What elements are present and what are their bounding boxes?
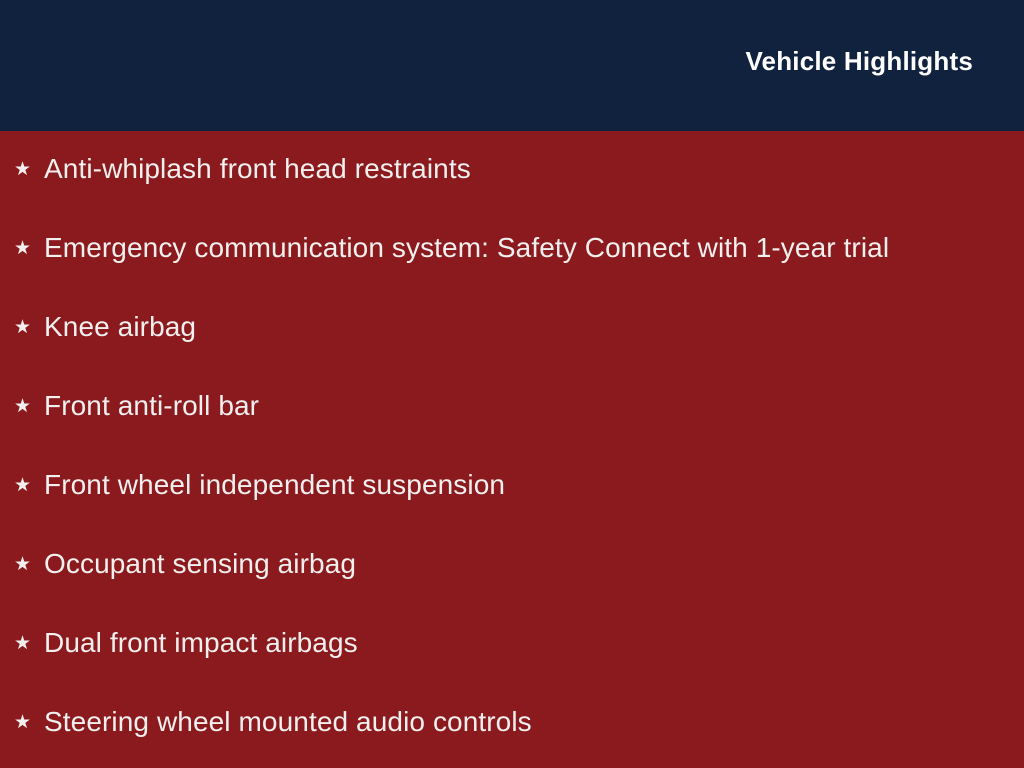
star-bullet-icon: ★ (14, 555, 44, 574)
slide-header-bar: Vehicle Highlights (0, 0, 1024, 131)
list-item: ★ Steering wheel mounted audio controls (14, 702, 1004, 742)
star-bullet-icon: ★ (14, 239, 44, 258)
list-item: ★ Front anti-roll bar (14, 386, 1004, 426)
list-item: ★ Dual front impact airbags (14, 623, 1004, 663)
slide-body: ★ Anti-whiplash front head restraints ★ … (0, 131, 1024, 768)
list-item-label: Occupant sensing airbag (44, 549, 356, 578)
list-item: ★ Emergency communication system: Safety… (14, 228, 1004, 268)
page-title: Vehicle Highlights (745, 46, 973, 77)
star-bullet-icon: ★ (14, 634, 44, 653)
star-bullet-icon: ★ (14, 397, 44, 416)
star-bullet-icon: ★ (14, 160, 44, 179)
star-bullet-icon: ★ (14, 318, 44, 337)
list-item-label: Steering wheel mounted audio controls (44, 707, 532, 736)
vehicle-highlights-slide: Vehicle Highlights ★ Anti-whiplash front… (0, 0, 1024, 768)
list-item-label: Front wheel independent suspension (44, 470, 505, 499)
list-item: ★ Knee airbag (14, 307, 1004, 347)
list-item-label: Emergency communication system: Safety C… (44, 233, 889, 262)
list-item-label: Dual front impact airbags (44, 628, 358, 657)
list-item: ★ Anti-whiplash front head restraints (14, 149, 1004, 189)
star-bullet-icon: ★ (14, 476, 44, 495)
list-item-label: Front anti-roll bar (44, 391, 259, 420)
list-item-label: Knee airbag (44, 312, 196, 341)
list-item-label: Anti-whiplash front head restraints (44, 154, 471, 183)
star-bullet-icon: ★ (14, 713, 44, 732)
list-item: ★ Front wheel independent suspension (14, 465, 1004, 505)
list-item: ★ Occupant sensing airbag (14, 544, 1004, 584)
